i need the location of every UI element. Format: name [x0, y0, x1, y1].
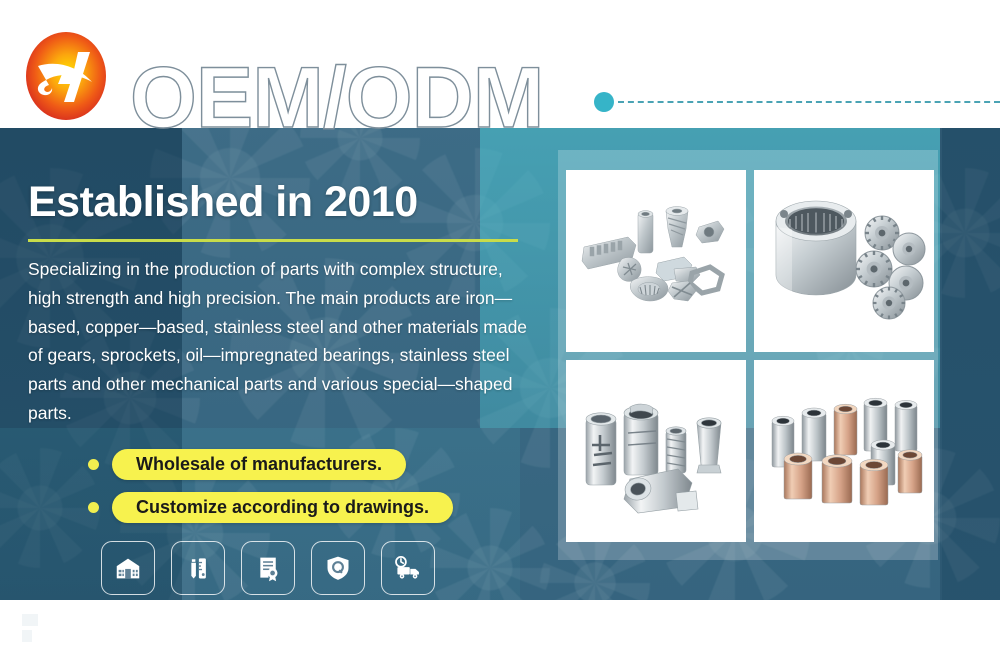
quality-shield-icon — [311, 541, 365, 595]
stainless-steel-parts[interactable] — [566, 360, 746, 542]
factory-icon — [101, 541, 155, 595]
housing-and-gears[interactable] — [754, 170, 934, 352]
content-column: Established in 2010 Specializing in the … — [28, 180, 548, 535]
copper-steel-bushings[interactable] — [754, 360, 934, 542]
bullet-pill-label: Customize according to drawings. — [112, 492, 453, 523]
bullet-dot-icon — [88, 459, 99, 470]
list-item: Customize according to drawings. — [88, 492, 548, 523]
delivery-truck-icon — [381, 541, 435, 595]
design-tools-icon — [171, 541, 225, 595]
accent-dot — [594, 92, 614, 112]
right-dark-band — [940, 128, 1000, 600]
description-text: Specializing in the production of parts … — [28, 255, 540, 427]
certificate-icon — [241, 541, 295, 595]
assorted-metal-parts[interactable] — [566, 170, 746, 352]
company-logo — [16, 26, 116, 126]
list-item: Wholesale of manufacturers. — [88, 449, 548, 480]
product-gallery — [566, 170, 934, 542]
promotional-banner: OEM/ODM Establ — [0, 0, 1000, 658]
bullet-list: Wholesale of manufacturers. Customize ac… — [88, 449, 548, 523]
watermark-text: OEM/ODM — [130, 52, 630, 144]
bullet-dot-icon — [88, 502, 99, 513]
watermark-oem-odm: OEM/ODM — [130, 52, 630, 144]
page-title: Established in 2010 — [28, 180, 548, 225]
dashed-divider-line — [618, 101, 1000, 103]
title-underline-rule — [28, 239, 518, 242]
bullet-pill-label: Wholesale of manufacturers. — [112, 449, 406, 480]
corner-decoration — [20, 612, 80, 646]
bottom-white-strip — [0, 600, 1000, 658]
feature-icon-row — [101, 541, 435, 595]
